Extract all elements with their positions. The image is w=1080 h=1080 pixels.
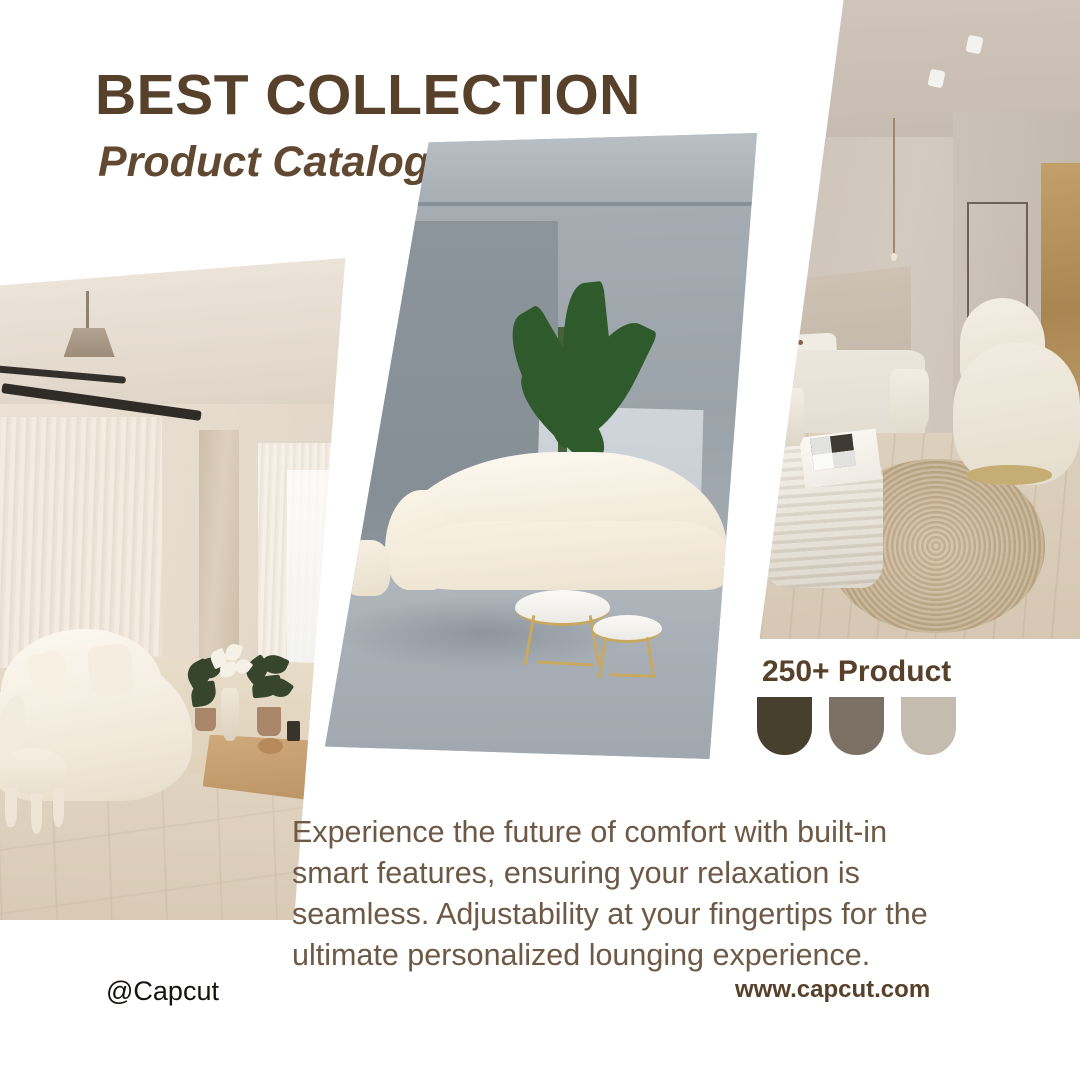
bed-pillow-1	[735, 335, 786, 381]
round-ottoman	[342, 540, 390, 596]
color-swatch-light-greige[interactable]	[901, 697, 956, 755]
plaster-bedroom-scene	[735, 0, 1080, 639]
dried-twig	[783, 331, 794, 395]
gallery-image-plaster-bedroom	[735, 0, 1080, 639]
product-count-label: 250+ Product	[762, 655, 951, 689]
twig-berry-3	[786, 346, 791, 351]
stool-leg-2	[31, 794, 43, 834]
boucle-pouf	[735, 395, 791, 472]
lounge-chair-brass-base	[967, 465, 1051, 484]
dark-cup	[287, 721, 300, 741]
book-cover-art	[811, 434, 857, 471]
twig-berry-1	[791, 324, 796, 329]
description-paragraph: Experience the future of comfort with bu…	[292, 812, 964, 975]
gray-studio-scene	[325, 133, 757, 759]
pendant-rod	[86, 291, 89, 331]
gallery-image-gray-studio-sofa	[325, 133, 757, 759]
ceiling-edge-line	[325, 202, 757, 206]
page-title: BEST COLLECTION	[95, 62, 641, 128]
ceiling-spotlight-2	[927, 69, 945, 88]
white-side-stool	[890, 369, 929, 433]
website-url[interactable]: www.capcut.com	[735, 976, 930, 1004]
product-catalog-poster: BEST COLLECTION Product Catalog	[0, 0, 1080, 1080]
stool-leg-1	[5, 788, 17, 828]
sofa-seat	[398, 521, 731, 590]
social-handle: @Capcut	[106, 976, 219, 1007]
marble-coffee-table-large	[515, 590, 610, 626]
boucle-lounge-chair	[953, 343, 1080, 484]
sofa-pillow-2	[87, 643, 136, 697]
flower-vase	[221, 688, 239, 741]
color-swatch-dark-espresso[interactable]	[757, 697, 812, 755]
ceramic-vase	[781, 388, 804, 446]
page-subtitle: Product Catalog	[98, 138, 430, 187]
stool-leg-3	[53, 788, 65, 828]
color-swatch-group	[757, 697, 956, 755]
pendant-cord	[893, 118, 895, 259]
color-swatch-warm-taupe[interactable]	[829, 697, 884, 755]
